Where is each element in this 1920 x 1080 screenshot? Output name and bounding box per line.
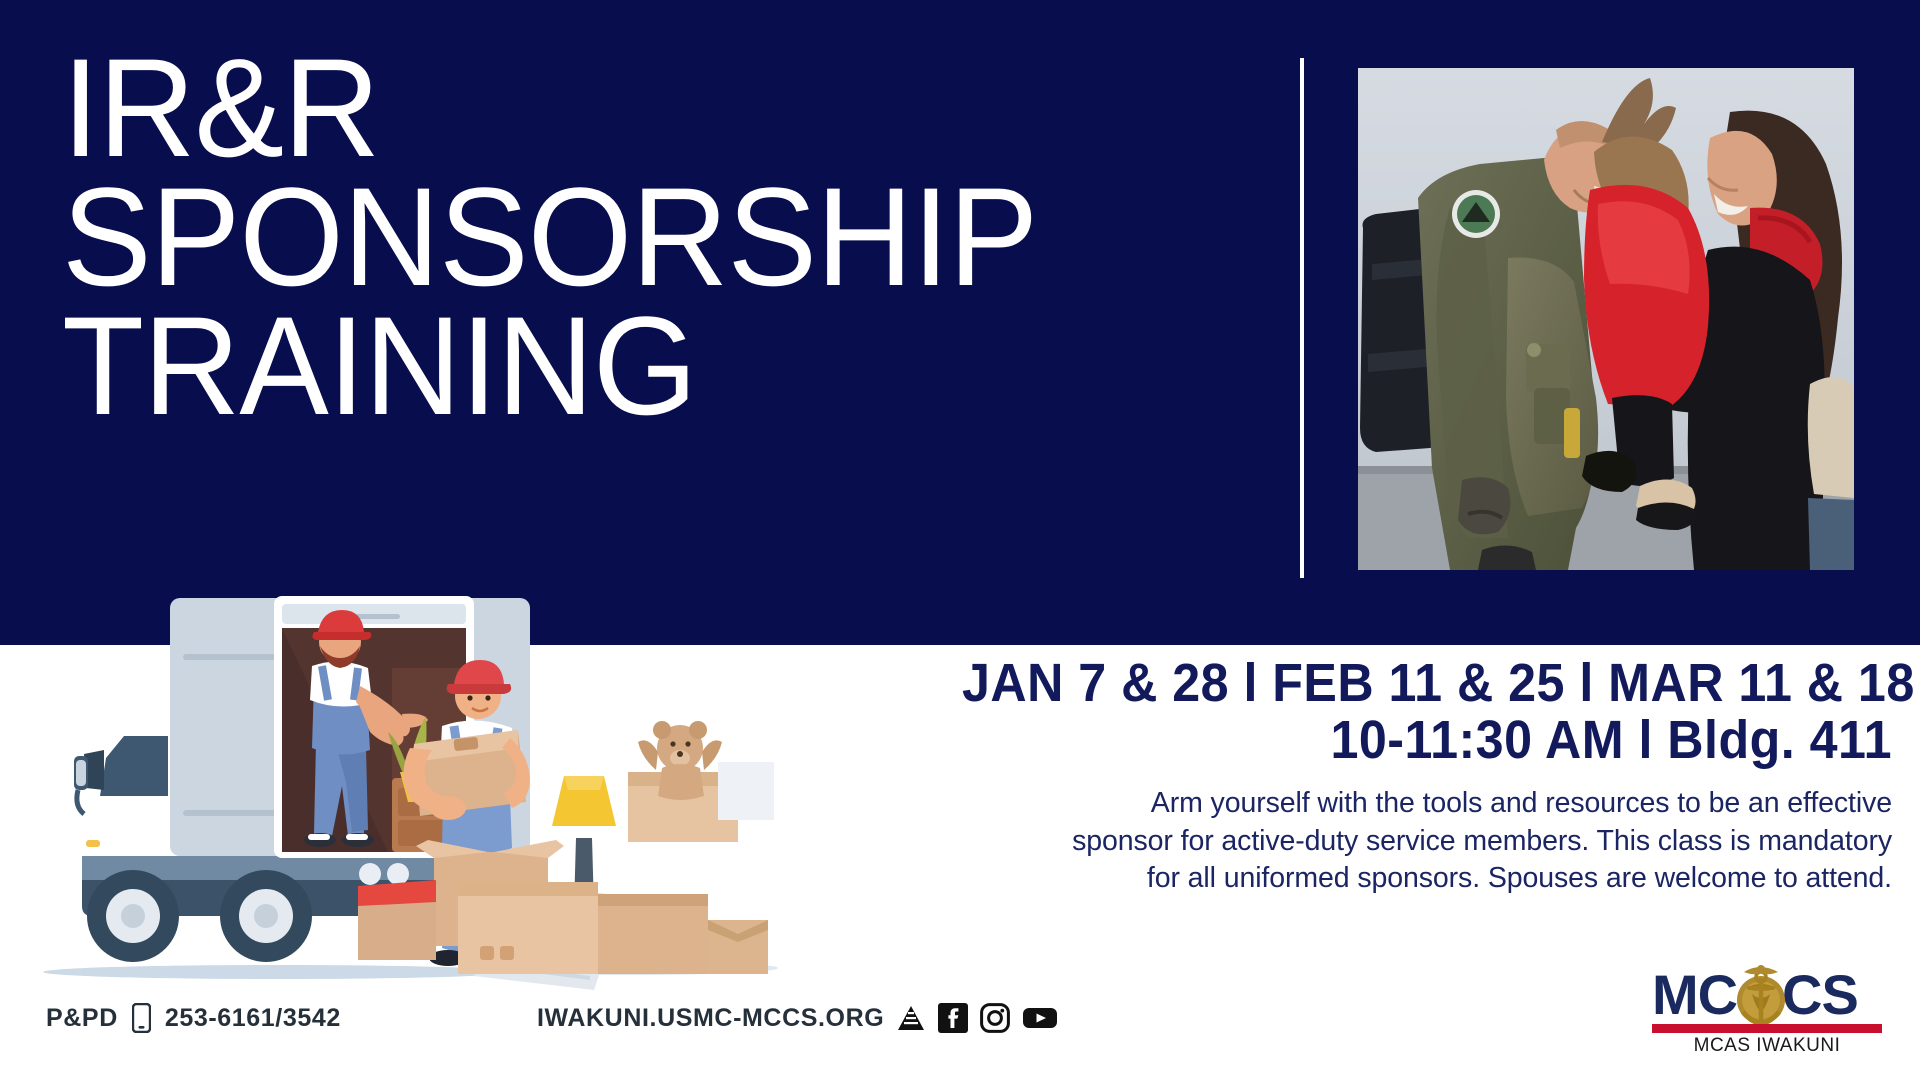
description-line-2: sponsor for active-duty service members.… bbox=[892, 823, 1892, 860]
page-title: IR&R SPONSORSHIP TRAINING bbox=[62, 44, 1242, 430]
schedule-dates: JAN 7 & 28 l FEB 11 & 25 l MAR 11 & 18 bbox=[962, 655, 1892, 712]
event-details: JAN 7 & 28 l FEB 11 & 25 l MAR 11 & 18 1… bbox=[892, 655, 1892, 897]
svg-text:MC: MC bbox=[1652, 963, 1737, 1026]
facebook-icon[interactable] bbox=[938, 1003, 968, 1033]
instagram-icon[interactable] bbox=[980, 1003, 1010, 1033]
svg-text:CS: CS bbox=[1782, 963, 1858, 1026]
mobile-phone-icon bbox=[132, 1003, 151, 1033]
vertical-divider bbox=[1300, 58, 1304, 578]
title-line-3: TRAINING bbox=[62, 302, 1195, 431]
promotional-poster: IR&R SPONSORSHIP TRAINING bbox=[0, 0, 1920, 1080]
title-line-1: IR&R bbox=[62, 44, 1195, 173]
title-line-2: SPONSORSHIP bbox=[62, 173, 1195, 302]
phone-number[interactable]: 253-6161/3542 bbox=[165, 1004, 341, 1033]
contact-info: P&PD 253-6161/3542 bbox=[46, 1003, 341, 1033]
eagle-globe-anchor-icon bbox=[1737, 965, 1785, 1026]
schedule-time-location: 10-11:30 AM l Bldg. 411 bbox=[962, 712, 1892, 769]
department-label: P&PD bbox=[46, 1004, 118, 1033]
app-triangle-icon[interactable] bbox=[896, 1003, 926, 1033]
svg-text:MCAS IWAKUNI: MCAS IWAKUNI bbox=[1694, 1035, 1841, 1054]
website-url[interactable]: IWAKUNI.USMC-MCCS.ORG bbox=[537, 1004, 884, 1033]
mccs-logo: MC CS MCAS IWAKUNI bbox=[1648, 962, 1886, 1054]
description-line-3: for all uniformed sponsors. Spouses are … bbox=[892, 860, 1892, 897]
website-and-social: IWAKUNI.USMC-MCCS.ORG bbox=[537, 1003, 1058, 1033]
hero-photo bbox=[1358, 68, 1854, 570]
moving-truck-and-movers-illustration bbox=[28, 590, 858, 1010]
event-description: Arm yourself with the tools and resource… bbox=[892, 785, 1892, 896]
youtube-icon[interactable] bbox=[1022, 1003, 1058, 1033]
description-line-1: Arm yourself with the tools and resource… bbox=[892, 785, 1892, 822]
